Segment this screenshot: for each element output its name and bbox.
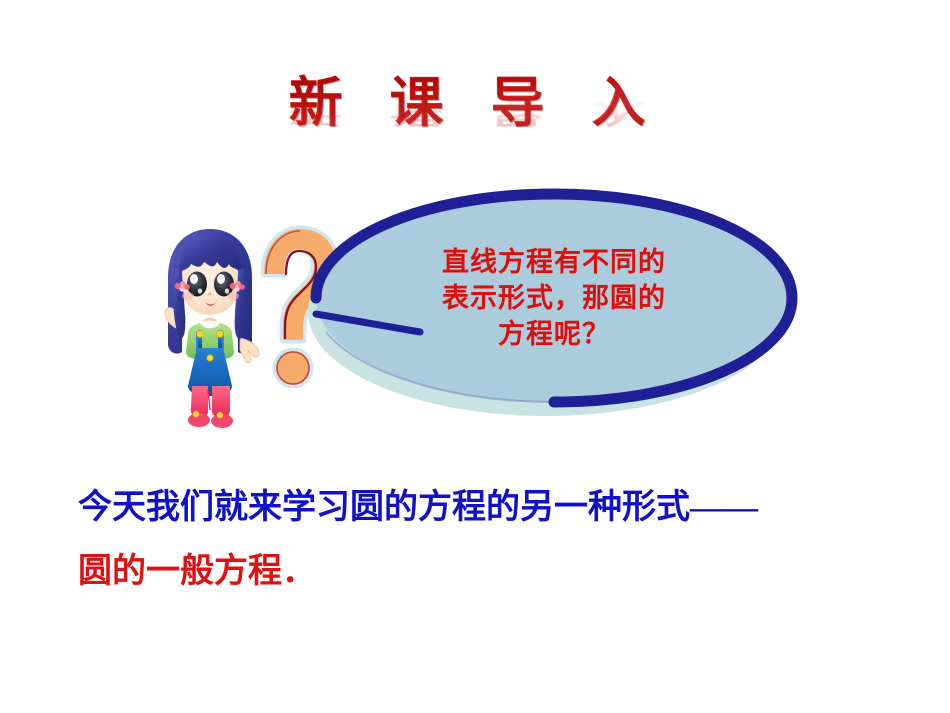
slide-canvas: 新 课 导 入 新 课 导 入 [0, 0, 950, 713]
page-title-text: 新 课 导 入 [0, 72, 950, 134]
page-title: 新 课 导 入 新 课 导 入 [0, 72, 950, 172]
speech-bubble [296, 188, 802, 420]
page-title-reflection: 新 课 导 入 [0, 97, 950, 129]
body-text-line-1: 今天我们就来学习圆的方程的另一种形式—— [78, 476, 898, 540]
cartoon-girl-illustration [152, 226, 268, 432]
body-text-line-2: 圆的一般方程． [78, 540, 898, 604]
body-text: 今天我们就来学习圆的方程的另一种形式—— 圆的一般方程． [78, 476, 898, 604]
